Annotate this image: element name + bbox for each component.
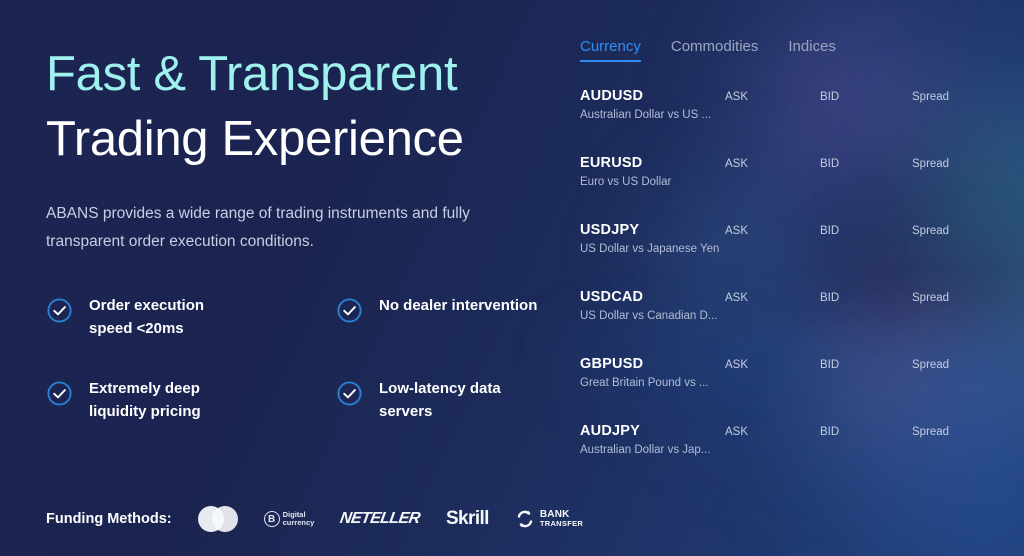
tab-commodities[interactable]: Commodities	[671, 38, 759, 62]
neteller-logo: NETELLER	[340, 510, 420, 528]
bid-value: BID	[820, 222, 912, 237]
instrument-name: Great Britain Pound vs ...	[580, 377, 725, 389]
transfer-arrows-icon	[515, 509, 535, 529]
neteller-wordmark: NETELLER	[339, 510, 422, 528]
feature-label: Order execution speed <20ms	[89, 295, 249, 341]
digital-currency-label: Digitalcurrency	[283, 511, 315, 528]
ask-value: ASK	[725, 423, 820, 438]
skrill-wordmark: Skrill	[446, 508, 489, 530]
instrument-name: US Dollar vs Japanese Yen	[580, 243, 725, 255]
bid-value: BID	[820, 356, 912, 371]
ask-value: ASK	[725, 155, 820, 170]
ask-value: ASK	[725, 222, 820, 237]
instrument-name: US Dollar vs Canadian D...	[580, 310, 725, 322]
bid-value: BID	[820, 155, 912, 170]
instrument-code: USDCAD	[580, 289, 725, 305]
ask-value: ASK	[725, 289, 820, 304]
feature-label: Extremely deep liquidity pricing	[89, 378, 249, 424]
instrument-symbol: USDCAD US Dollar vs Canadian D...	[580, 289, 725, 322]
table-row[interactable]: AUDUSD Australian Dollar vs US ... ASK B…	[568, 88, 994, 155]
feature-label: Low-latency data servers	[379, 378, 539, 424]
ask-value: ASK	[725, 356, 820, 371]
instrument-code: GBPUSD	[580, 356, 725, 372]
digital-currency-mark: B	[264, 511, 280, 527]
funding-methods: Funding Methods: B Digitalcurrency NETEL…	[46, 506, 583, 532]
table-row[interactable]: USDJPY US Dollar vs Japanese Yen ASK BID…	[568, 222, 994, 289]
bid-value: BID	[820, 423, 912, 438]
spread-value: Spread	[912, 88, 982, 103]
instrument-code: USDJPY	[580, 222, 725, 238]
funding-methods-label: Funding Methods:	[46, 511, 172, 527]
spread-value: Spread	[912, 356, 982, 371]
instrument-name: Australian Dollar vs Jap...	[580, 444, 725, 456]
check-circle-icon	[336, 297, 363, 324]
bid-value: BID	[820, 88, 912, 103]
tab-currency[interactable]: Currency	[580, 38, 641, 62]
instrument-symbol: GBPUSD Great Britain Pound vs ...	[580, 356, 725, 389]
skrill-logo: Skrill	[446, 508, 489, 530]
instrument-code: AUDUSD	[580, 88, 725, 104]
check-circle-icon	[46, 297, 73, 324]
spread-value: Spread	[912, 289, 982, 304]
instrument-name: Euro vs US Dollar	[580, 176, 725, 188]
feature-item: No dealer intervention	[336, 295, 546, 341]
instrument-symbol: AUDJPY Australian Dollar vs Jap...	[580, 423, 725, 456]
headline-line-2: Trading Experience	[46, 107, 560, 172]
hero-paragraph: ABANS provides a wide range of trading i…	[46, 200, 516, 255]
bid-value: BID	[820, 289, 912, 304]
table-row[interactable]: USDCAD US Dollar vs Canadian D... ASK BI…	[568, 289, 994, 356]
feature-item: Extremely deep liquidity pricing	[46, 378, 336, 424]
spread-value: Spread	[912, 423, 982, 438]
hero-section: Fast & Transparent Trading Experience AB…	[0, 0, 560, 556]
ask-value: ASK	[725, 88, 820, 103]
headline-line-1: Fast & Transparent	[46, 42, 560, 107]
feature-list: Order execution speed <20ms No dealer in…	[46, 295, 546, 423]
instrument-symbol: AUDUSD Australian Dollar vs US ...	[580, 88, 725, 121]
instrument-code: AUDJPY	[580, 423, 725, 439]
feature-item: Order execution speed <20ms	[46, 295, 336, 341]
table-row[interactable]: EURUSD Euro vs US Dollar ASK BID Spread	[568, 155, 994, 222]
quotes-tabs: Currency Commodities Indices	[568, 38, 994, 62]
spread-value: Spread	[912, 222, 982, 237]
tab-indices[interactable]: Indices	[788, 38, 836, 62]
page-title: Fast & Transparent Trading Experience	[46, 42, 560, 172]
digital-currency-logo: B Digitalcurrency	[264, 511, 315, 528]
quotes-list: AUDUSD Australian Dollar vs US ... ASK B…	[568, 88, 994, 490]
instrument-symbol: EURUSD Euro vs US Dollar	[580, 155, 725, 188]
table-row[interactable]: GBPUSD Great Britain Pound vs ... ASK BI…	[568, 356, 994, 423]
instrument-name: Australian Dollar vs US ...	[580, 109, 725, 121]
check-circle-icon	[46, 380, 73, 407]
instrument-code: EURUSD	[580, 155, 725, 171]
check-circle-icon	[336, 380, 363, 407]
mastercard-logo	[198, 506, 238, 532]
instrument-symbol: USDJPY US Dollar vs Japanese Yen	[580, 222, 725, 255]
feature-item: Low-latency data servers	[336, 378, 546, 424]
quotes-panel: Currency Commodities Indices AUDUSD Aust…	[560, 0, 1024, 556]
table-row[interactable]: AUDJPY Australian Dollar vs Jap... ASK B…	[568, 423, 994, 490]
feature-label: No dealer intervention	[379, 295, 537, 318]
spread-value: Spread	[912, 155, 982, 170]
